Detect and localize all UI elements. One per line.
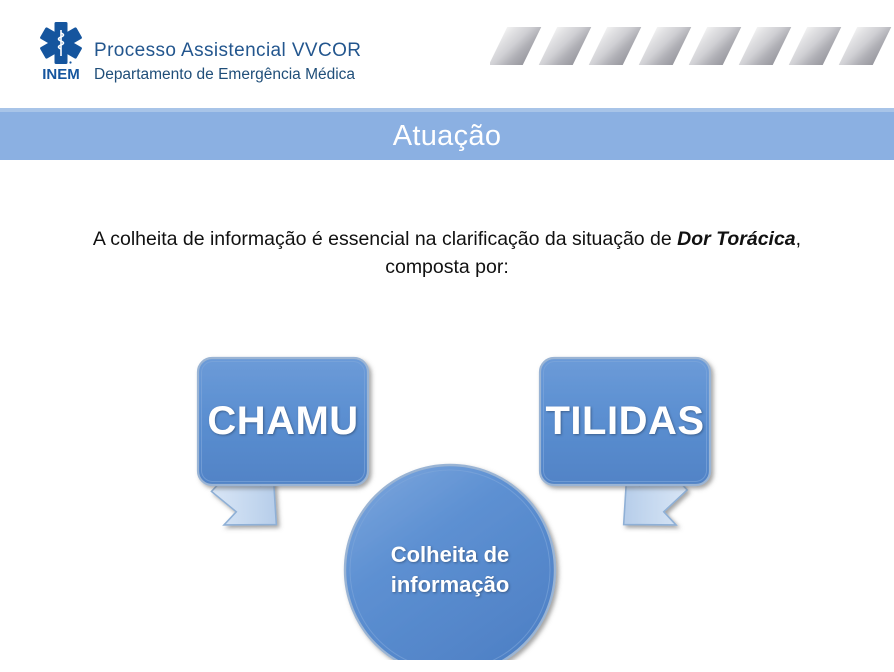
node-center-circle bbox=[345, 465, 555, 660]
stripe-1 bbox=[490, 27, 541, 65]
stripe-8 bbox=[839, 27, 892, 65]
paragraph-emphasis: Dor Torácica bbox=[677, 228, 796, 250]
section-title-band: Atuação bbox=[0, 112, 894, 160]
header-title: Processo Assistencial VVCOR bbox=[94, 38, 494, 63]
inem-logo: INEM bbox=[33, 20, 89, 82]
paragraph-text-lead: A colheita de informação é essencial na … bbox=[93, 228, 677, 250]
body-paragraph: A colheita de informação é essencial na … bbox=[62, 225, 832, 281]
star-of-life-icon: INEM bbox=[33, 20, 89, 82]
header-decorative-stripes bbox=[490, 27, 894, 65]
slide-header: INEM Processo Assistencial VVCOR Departa… bbox=[0, 0, 894, 112]
header-subtitle: Departamento de Emergência Médica bbox=[94, 63, 494, 87]
stripe-3 bbox=[589, 27, 642, 65]
stripe-5 bbox=[689, 27, 742, 65]
diagram-canvas bbox=[0, 340, 894, 660]
registered-mark-icon bbox=[69, 61, 71, 63]
stripe-7 bbox=[789, 27, 842, 65]
node-tilidas bbox=[540, 358, 710, 485]
node-chamu bbox=[198, 358, 368, 485]
stripe-4 bbox=[639, 27, 692, 65]
inem-logo-wordmark: INEM bbox=[42, 66, 80, 82]
header-titles: Processo Assistencial VVCOR Departamento… bbox=[94, 38, 494, 87]
stripe-2 bbox=[539, 27, 592, 65]
diagram-colheita-de-informacao: CHAMU TILIDAS Colheita de informação bbox=[0, 340, 894, 660]
stripe-6 bbox=[739, 27, 792, 65]
section-title: Atuação bbox=[393, 119, 502, 153]
